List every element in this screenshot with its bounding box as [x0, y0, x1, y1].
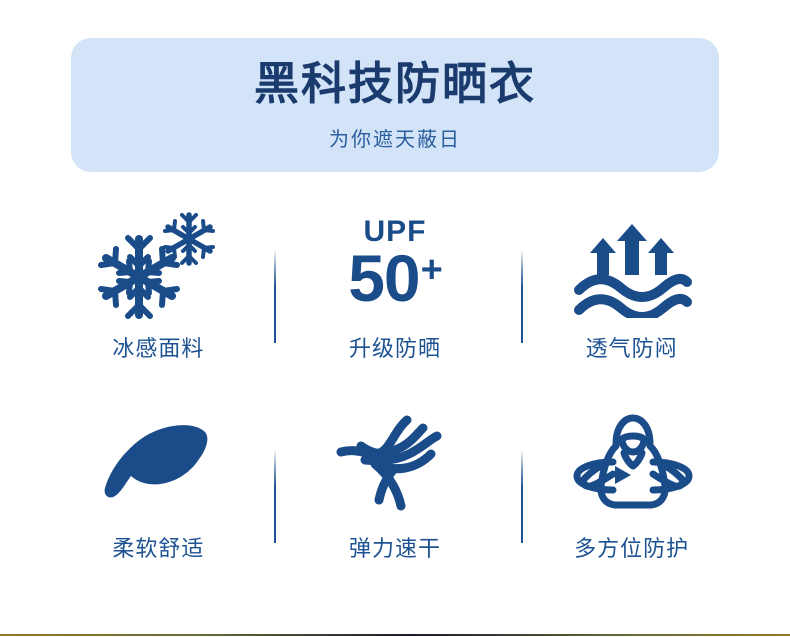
arrows-waves-breathable-icon: [571, 205, 693, 323]
hooded-figure-360-protection-icon: [567, 405, 697, 523]
feature-grid: 冰感面料 UPF 50+ 升级防晒: [40, 205, 750, 605]
feature-cell-breathable: 透气防闷: [513, 205, 750, 405]
feature-label-upf: 升级防晒: [349, 331, 441, 363]
feature-cell-all-round-protection: 多方位防护: [513, 405, 750, 605]
page-subtitle: 为你遮天蔽日: [329, 123, 461, 152]
page-title: 黑科技防晒衣: [254, 60, 536, 107]
promo-page: 黑科技防晒衣 为你遮天蔽日: [0, 0, 790, 637]
feature-cell-upf: UPF 50+ 升级防晒: [277, 205, 514, 405]
upf-50-plus-icon: UPF 50+: [348, 205, 442, 323]
page-bottom-rule: [0, 634, 790, 636]
header-banner: 黑科技防晒衣 为你遮天蔽日: [71, 38, 719, 172]
upf-value-text: 50: [348, 245, 419, 311]
feature-cell-elastic-quickdry: 弹力速干: [277, 405, 514, 605]
feature-cell-soft-comfort: 柔软舒适: [40, 405, 277, 605]
feature-label-breathable: 透气防闷: [586, 331, 678, 363]
snowflakes-icon: [94, 205, 222, 323]
feature-label-cooling-fabric: 冰感面料: [112, 331, 204, 363]
elastic-fibers-icon: [335, 405, 455, 523]
leaf-icon: [97, 405, 219, 523]
feature-row-2: 柔软舒适 弹力速干: [40, 405, 750, 605]
upf-suffix-text: +: [421, 251, 442, 289]
feature-label-soft-comfort: 柔软舒适: [112, 531, 204, 563]
feature-row-1: 冰感面料 UPF 50+ 升级防晒: [40, 205, 750, 405]
feature-label-elastic-quickdry: 弹力速干: [349, 531, 441, 563]
feature-label-all-round-protection: 多方位防护: [574, 531, 689, 563]
feature-cell-cooling-fabric: 冰感面料: [40, 205, 277, 405]
